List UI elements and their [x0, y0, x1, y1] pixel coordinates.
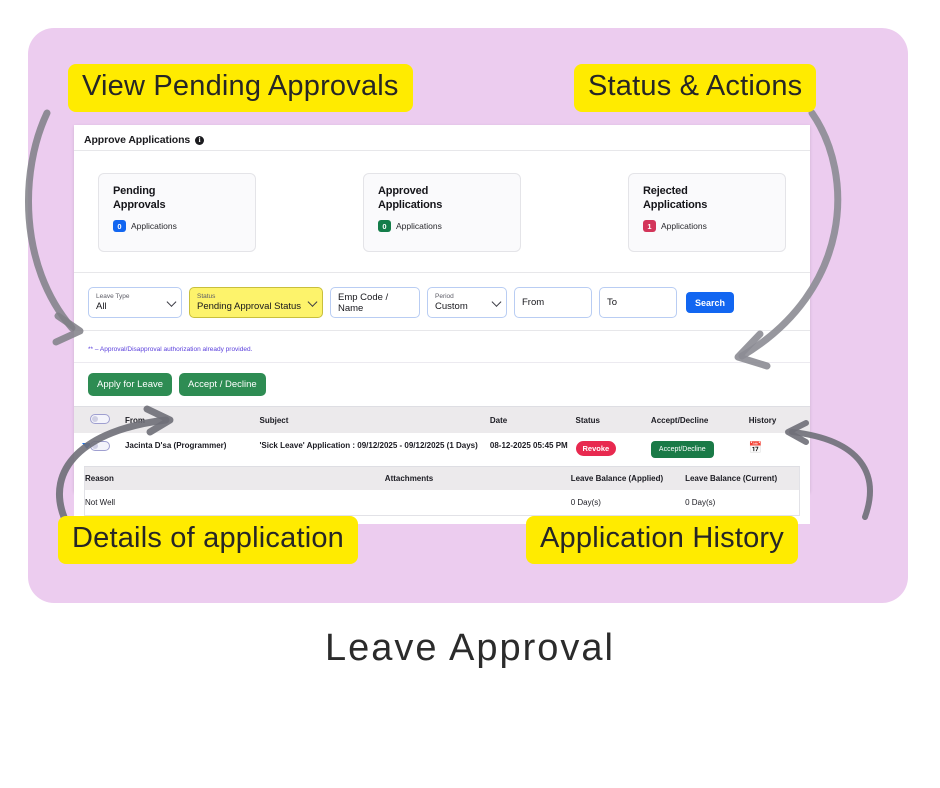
annotation-details-of-application: Details of application — [58, 516, 358, 564]
screenshot-root: Approve Applications i Pending Approvals… — [0, 0, 940, 788]
annotation-view-pending-approvals: View Pending Approvals — [68, 64, 413, 112]
annotation-application-history: Application History — [526, 516, 798, 564]
figure-caption: Leave Approval — [0, 627, 940, 670]
annotation-status-and-actions: Status & Actions — [574, 64, 816, 112]
